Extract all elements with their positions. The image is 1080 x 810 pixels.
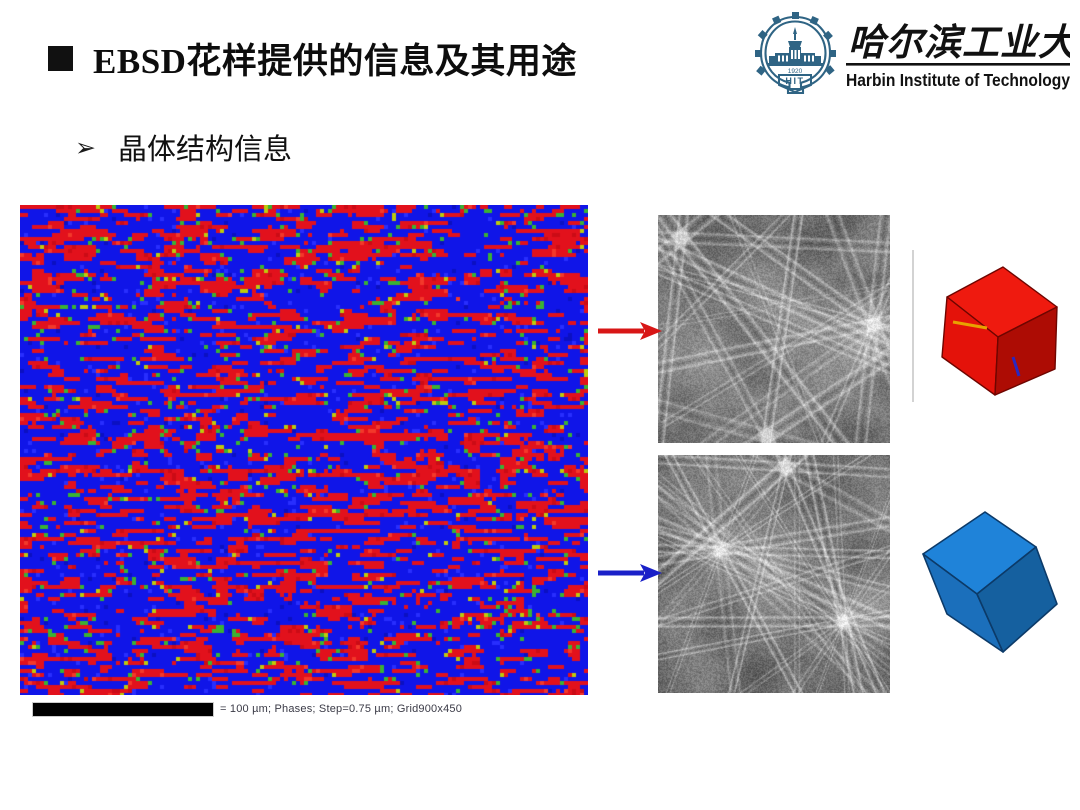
harbin-institute-of-technology-logo: 1920 HIT 哈尔滨工业大学 Harbin Institute of Tec… (745, 7, 1070, 95)
arrow-blue-phase (598, 560, 662, 586)
unit-cell-red (905, 245, 1080, 420)
page-title: EBSD花样提供的信息及其用途 (48, 33, 577, 84)
kikuchi-pattern-blue-phase (658, 455, 890, 693)
subtitle-text: 晶体结构信息 (118, 126, 292, 168)
ebsd-map-legend: = 100 µm; Phases; Step=0.75 µm; Grid900x… (20, 695, 588, 723)
unit-cell-blue (905, 492, 1080, 667)
square-bullet-icon (48, 46, 73, 71)
logo-year-text: 1920 (788, 68, 803, 75)
subtitle: ➢ 晶体结构信息 (75, 126, 292, 168)
arrow-bullet-icon: ➢ (75, 135, 96, 160)
kikuchi-pattern-blue-canvas (658, 455, 890, 693)
arrow-red-phase (598, 318, 662, 344)
logo-english-name: Harbin Institute of Technology (846, 70, 1070, 90)
slide-canvas: EBSD花样提供的信息及其用途 ➢ 晶体结构信息 (0, 0, 1080, 810)
kikuchi-pattern-red-phase (658, 215, 890, 443)
ebsd-map-canvas (20, 205, 588, 695)
ebsd-phase-map: = 100 µm; Phases; Step=0.75 µm; Grid900x… (20, 205, 588, 723)
scale-bar (32, 702, 214, 717)
ebsd-map-caption: = 100 µm; Phases; Step=0.75 µm; Grid900x… (220, 703, 462, 715)
ebsd-map-image (20, 205, 588, 695)
kikuchi-pattern-red-canvas (658, 215, 890, 443)
logo-chinese-name: 哈尔滨工业大学 (848, 22, 1070, 64)
page-title-text: EBSD花样提供的信息及其用途 (93, 33, 577, 84)
logo-abbreviation-text: HIT (785, 76, 804, 86)
